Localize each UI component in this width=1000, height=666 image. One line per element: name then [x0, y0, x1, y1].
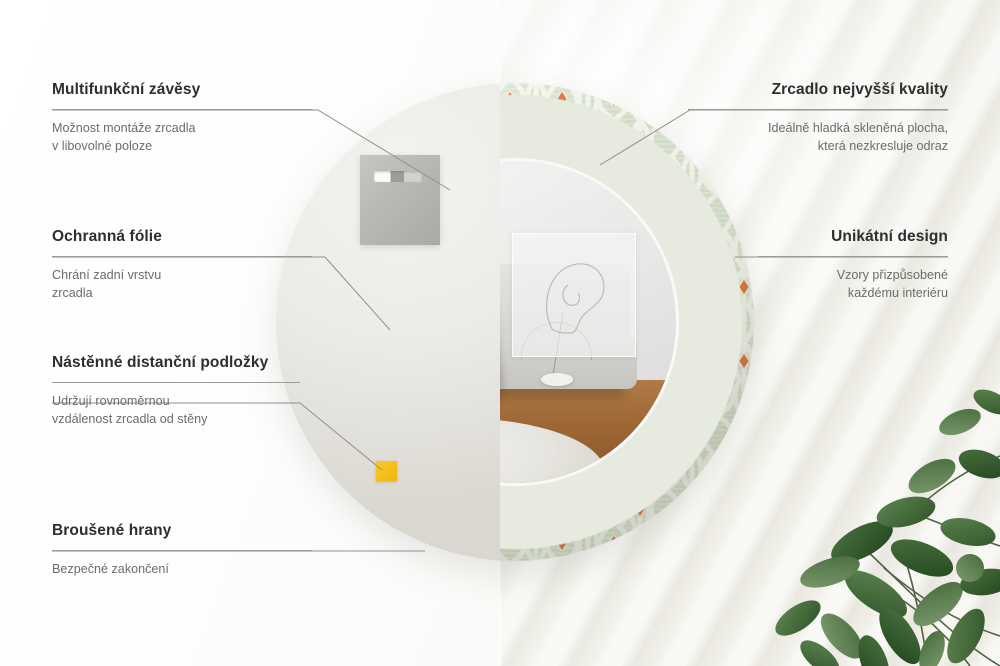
callout-rule: [52, 382, 300, 383]
callout-title: Broušené hrany: [52, 521, 312, 541]
callout-desc: Bezpečné zakončení: [52, 560, 312, 579]
callout-title: Ochranná fólie: [52, 227, 312, 247]
callout-multifunctional-hangers: Multifunkční závěsy Možnost montáže zrca…: [52, 80, 312, 156]
callout-rule: [758, 256, 948, 257]
callout-title: Unikátní design: [758, 227, 948, 247]
callout-title: Nástěnné distanční podložky: [52, 353, 300, 373]
callout-rule: [52, 109, 312, 110]
callout-desc: Udržují rovnoměrnouvzdálenost zrcadla od…: [52, 392, 300, 429]
callout-desc: Možnost montáže zrcadlav libovolné poloz…: [52, 119, 312, 156]
callout-protective-film: Ochranná fólie Chrání zadní vrstvuzrcadl…: [52, 227, 312, 303]
foliage-decoration: [670, 336, 1000, 666]
callout-rule: [688, 109, 948, 110]
infographic-stage: Multifunkční závěsy Možnost montáže zrca…: [0, 0, 1000, 666]
callout-top-quality-mirror: Zrcadlo nejvyšší kvality Ideálně hladká …: [688, 80, 948, 156]
wall-spacer-pad: [376, 461, 397, 481]
callout-title: Zrcadlo nejvyšší kvality: [688, 80, 948, 100]
callout-rule: [52, 550, 312, 551]
callout-desc: Chrání zadní vrstvuzrcadla: [52, 266, 312, 303]
callout-desc: Vzory přizpůsobenékaždému interiéru: [758, 266, 948, 303]
callout-title: Multifunkční závěsy: [52, 80, 312, 100]
callout-ground-edges: Broušené hrany Bezpečné zakončení: [52, 521, 312, 578]
hanger-plate: [360, 155, 440, 245]
callout-desc: Ideálně hladká skleněná plocha,která nez…: [688, 119, 948, 156]
callout-rule: [52, 256, 312, 257]
hanger-keyhole-slot: [374, 171, 422, 182]
callout-wall-spacers: Nástěnné distanční podložky Udržují rovn…: [52, 353, 300, 429]
protective-film-doodle-icon: [512, 233, 636, 357]
callout-unique-design: Unikátní design Vzory přizpůsobenékaždém…: [758, 227, 948, 303]
